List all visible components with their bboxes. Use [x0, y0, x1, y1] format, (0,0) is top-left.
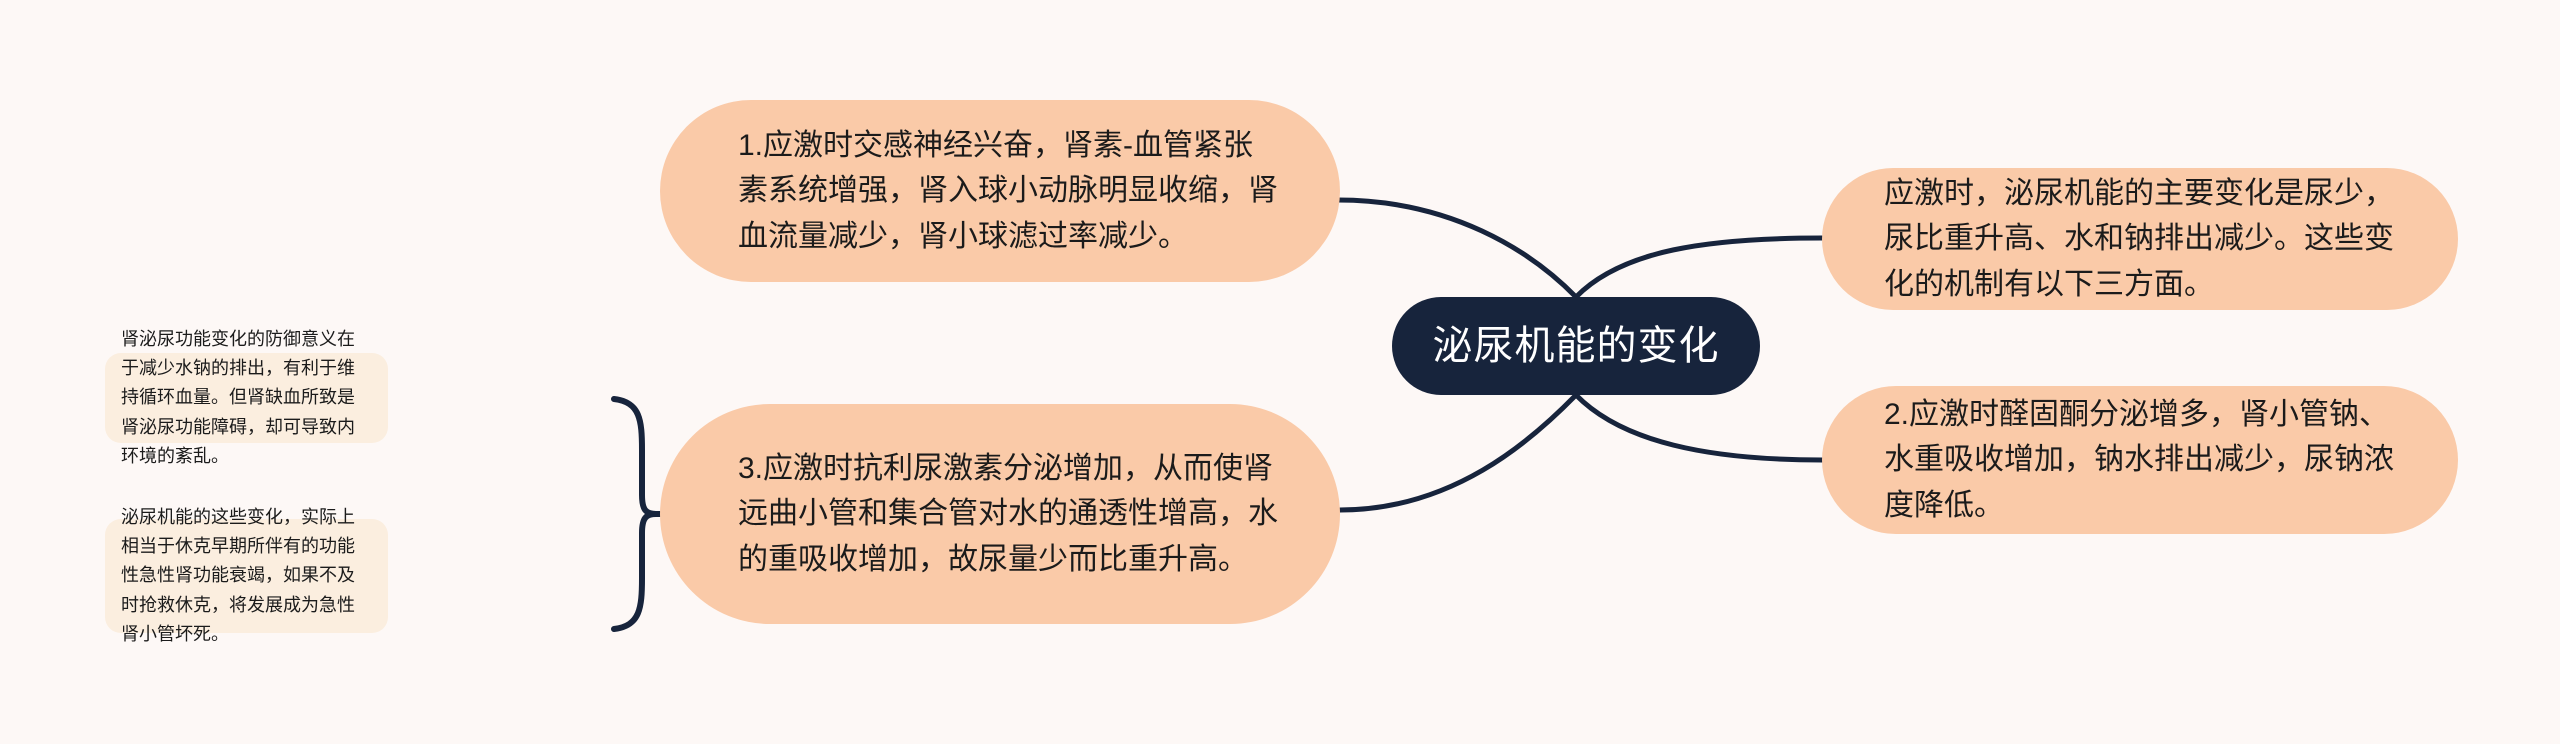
edge-root-to-node-2 — [1576, 395, 1822, 460]
leaf-note-2[interactable]: 泌尿机能的这些变化，实际上相当于休克早期所伴有的功能性急性肾功能衰竭，如果不及时… — [105, 519, 388, 633]
branch-node-3-label: 3.应激时抗利尿激素分泌增加，从而使肾远曲小管和集合管对水的通透性增高，水的重吸… — [738, 446, 1278, 583]
leaf-note-2-label: 泌尿机能的这些变化，实际上相当于休克早期所伴有的功能性急性肾功能衰竭，如果不及时… — [121, 503, 372, 649]
leaf-note-1-label: 肾泌尿功能变化的防御意义在于减少水钠的排出，有利于维持循环血量。但肾缺血所致是肾… — [121, 325, 372, 471]
branch-node-summary-label: 应激时，泌尿机能的主要变化是尿少，尿比重升高、水和钠排出减少。这些变化的机制有以… — [1884, 171, 2412, 308]
root-node[interactable]: 泌尿机能的变化 — [1392, 297, 1760, 395]
branch-node-summary[interactable]: 应激时，泌尿机能的主要变化是尿少，尿比重升高、水和钠排出减少。这些变化的机制有以… — [1822, 168, 2458, 310]
branch-node-1[interactable]: 1.应激时交感神经兴奋，肾素-血管紧张素系统增强，肾入球小动脉明显收缩，肾血流量… — [660, 100, 1340, 282]
branch-node-2[interactable]: 2.应激时醛固酮分泌增多，肾小管钠、水重吸收增加，钠水排出减少，尿钠浓度降低。 — [1822, 386, 2458, 534]
branch-node-1-label: 1.应激时交感神经兴奋，肾素-血管紧张素系统增强，肾入球小动脉明显收缩，肾血流量… — [738, 123, 1278, 260]
branch-node-2-label: 2.应激时醛固酮分泌增多，肾小管钠、水重吸收增加，钠水排出减少，尿钠浓度降低。 — [1884, 392, 2412, 529]
leaf-note-1[interactable]: 肾泌尿功能变化的防御意义在于减少水钠的排出，有利于维持循环血量。但肾缺血所致是肾… — [105, 353, 388, 443]
mindmap-canvas: 泌尿机能的变化 1.应激时交感神经兴奋，肾素-血管紧张素系统增强，肾入球小动脉明… — [0, 0, 2560, 744]
edge-root-to-node-3 — [1340, 395, 1576, 510]
edge-root-to-node-1 — [1338, 200, 1576, 297]
edge-brace-leaves — [614, 399, 656, 629]
root-node-label: 泌尿机能的变化 — [1392, 321, 1760, 371]
branch-node-3[interactable]: 3.应激时抗利尿激素分泌增加，从而使肾远曲小管和集合管对水的通透性增高，水的重吸… — [660, 404, 1340, 624]
edge-root-to-node-a — [1576, 238, 1822, 297]
